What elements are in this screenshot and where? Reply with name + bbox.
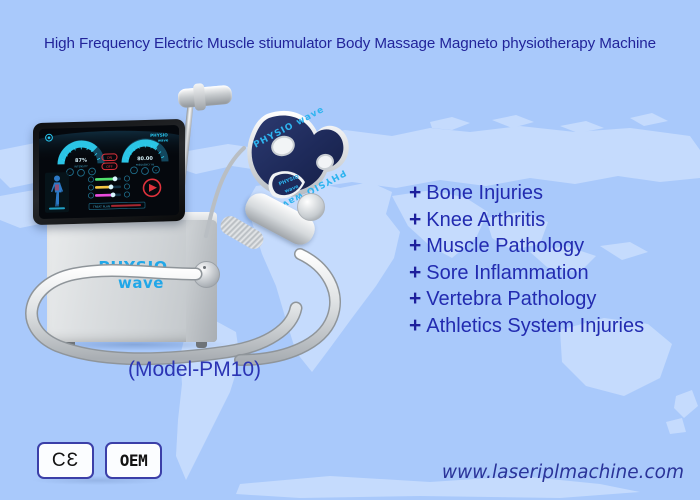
plus-icon: + bbox=[409, 182, 421, 203]
benefit-item: + Knee Arthritis bbox=[409, 209, 644, 236]
model-label: (Model-PM10) bbox=[128, 358, 261, 382]
pill-bottom-label: OFF bbox=[106, 165, 113, 169]
benefit-item: + Bone Injuries bbox=[409, 182, 644, 209]
benefit-label: Bone Injuries bbox=[426, 183, 543, 203]
plus-icon: + bbox=[409, 235, 421, 256]
touchscreen-bezel: PHYSIO wave bbox=[33, 119, 185, 225]
svg-text:+: + bbox=[91, 170, 93, 174]
svg-text:wave: wave bbox=[158, 138, 169, 142]
svg-text:-: - bbox=[134, 169, 135, 173]
certification-badges: CƐ OEM bbox=[37, 442, 162, 479]
ce-badge: CƐ bbox=[37, 442, 94, 479]
benefits-list: + Bone Injuries + Knee Arthritis + Muscl… bbox=[409, 182, 644, 341]
gauge-left-unit: INTENSITY bbox=[74, 164, 88, 168]
benefit-label: Muscle Pathology bbox=[426, 236, 584, 256]
gauge-right-unit: FREQUENCY Hz bbox=[136, 163, 155, 167]
product-photo: PHYSIO wave PHYSIO wave PHYSIO wave PHYS… bbox=[0, 60, 420, 400]
touchscreen[interactable]: PHYSIO wave bbox=[39, 125, 179, 219]
benefit-item: + Sore Inflammation bbox=[409, 262, 644, 289]
plus-icon: + bbox=[409, 262, 421, 283]
page-title: High Frequency Electric Muscle stiumulat… bbox=[0, 35, 700, 52]
plus-icon: + bbox=[409, 209, 421, 230]
body-figure bbox=[45, 172, 69, 213]
status-label: TREAT PLAN bbox=[92, 204, 110, 209]
screen-brand-mark: PHYSIO bbox=[150, 132, 168, 138]
benefit-label: Knee Arthritis bbox=[426, 210, 545, 230]
benefit-label: Vertebra Pathology bbox=[426, 289, 596, 309]
plus-icon: + bbox=[409, 288, 421, 309]
gauge-left-value: 87% bbox=[75, 158, 87, 164]
svg-text:-: - bbox=[70, 170, 71, 174]
product-marketing-image: High Frequency Electric Muscle stiumulat… bbox=[0, 0, 700, 500]
benefit-item: + Muscle Pathology bbox=[409, 235, 644, 262]
gauge-right-value: 80.00 bbox=[137, 156, 153, 162]
svg-text:+: + bbox=[155, 168, 157, 172]
oem-badge: OEM bbox=[105, 442, 162, 479]
benefit-label: Athletics System Injuries bbox=[426, 316, 644, 336]
website-url: www.laseriplmachine.com bbox=[442, 462, 684, 483]
benefit-item: + Athletics System Injuries bbox=[409, 315, 644, 342]
benefit-item: + Vertebra Pathology bbox=[409, 288, 644, 315]
benefit-label: Sore Inflammation bbox=[426, 263, 588, 283]
cables bbox=[0, 60, 420, 400]
pill-top-label: ON bbox=[107, 156, 113, 160]
plus-icon: + bbox=[409, 315, 421, 336]
